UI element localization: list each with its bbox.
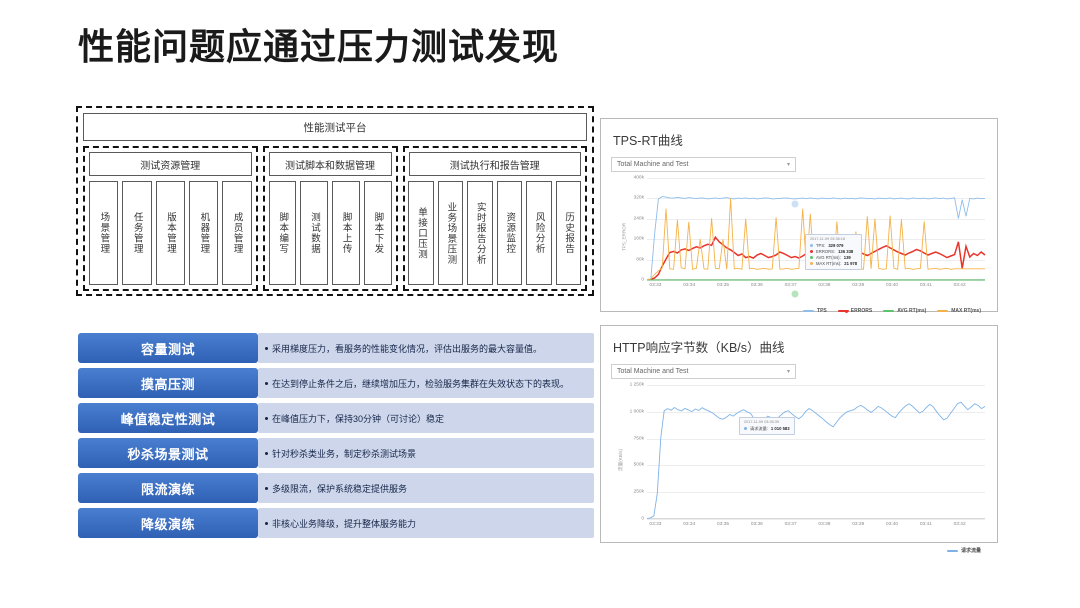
- tooltip-swatch-icon: [810, 256, 813, 259]
- test-type-desc-wrap: 在达到停止条件之后，继续增加压力，检验服务集群在失效状态下的表现。: [258, 368, 594, 398]
- arch-group-title: 测试资源管理: [89, 152, 252, 176]
- page-title: 性能问题应通过压力测试发现: [78, 18, 559, 70]
- gridline: [647, 519, 985, 520]
- y-axis-tick: 160k: [634, 237, 644, 242]
- http-plot-area: 流量(KB/s) 1 250k1 000k750k500k250k003:330…: [611, 385, 987, 535]
- arch-item: 风险分析: [526, 181, 551, 285]
- y-axis-tick: 0: [641, 517, 644, 522]
- tooltip-series-value: 1 010 583: [771, 426, 790, 432]
- test-type-label: 限流演练: [78, 473, 258, 503]
- x-axis-tick: 03:41: [920, 522, 932, 527]
- legend-label: TPS: [817, 308, 827, 314]
- legend-item-max-rt[interactable]: MAX RT(ms): [937, 308, 981, 314]
- test-type-desc: 采用梯度压力，看服务的性能变化情况，评估出服务的最大容量值。: [272, 342, 542, 355]
- tps-grid: 400k320k240k160k80k003:3303:3403:3503:36…: [647, 178, 985, 280]
- y-axis-label: TPS_ERROR: [622, 223, 627, 251]
- y-axis-label: 流量(KB/s): [618, 449, 624, 471]
- chart-title: TPS-RT曲线: [613, 130, 987, 149]
- test-type-label: 降级演练: [78, 508, 258, 538]
- series-paths: [647, 385, 985, 519]
- arch-item: 资源监控: [497, 181, 522, 285]
- arch-group-items: 脚本编写 测试数据 脚本上传 脚本下发: [269, 181, 392, 285]
- legend-label: ERRORS: [851, 308, 872, 314]
- x-axis-tick: 03:39: [852, 283, 864, 288]
- machine-select-http[interactable]: Total Machine and Test ▾: [611, 364, 796, 379]
- x-axis-tick: 03:35: [717, 522, 729, 527]
- select-value: Total Machine and Test: [617, 368, 688, 375]
- machine-select-tps[interactable]: Total Machine and Test ▾: [611, 157, 796, 172]
- chart-hover-marker: [792, 291, 799, 298]
- test-type-desc-wrap: 多级限流，保护系统稳定提供服务: [258, 473, 594, 503]
- tooltip-row: MAX RT(ms):21 978: [810, 261, 857, 267]
- arch-item: 实时报告分析: [467, 181, 492, 285]
- x-axis-tick: 03:34: [683, 522, 695, 527]
- legend-item-errors[interactable]: ERRORS: [838, 308, 872, 314]
- bullet-icon: [265, 382, 268, 385]
- test-type-desc: 多级限流，保护系统稳定提供服务: [272, 482, 407, 495]
- arch-group-resource: 测试资源管理 场景管理 任务管理 版本管理 机器管理 成员管理: [83, 146, 258, 291]
- list-item: 限流演练 多级限流，保护系统稳定提供服务: [78, 473, 594, 503]
- arch-group-execution: 测试执行和报告管理 单接口压测 业务场景压测 实时报告分析 资源监控 风险分析 …: [403, 146, 588, 291]
- y-axis-tick: 1 000k: [630, 409, 644, 414]
- y-axis-tick: 320k: [634, 196, 644, 201]
- legend-label: 请求流量: [961, 547, 981, 554]
- x-axis-tick: 03:40: [886, 283, 898, 288]
- x-axis-tick: 03:37: [785, 283, 797, 288]
- arch-group-title: 测试执行和报告管理: [409, 152, 582, 176]
- list-item: 峰值稳定性测试 在峰值压力下，保持30分钟（可讨论）稳定: [78, 403, 594, 433]
- test-type-desc-wrap: 采用梯度压力，看服务的性能变化情况，评估出服务的最大容量值。: [258, 333, 594, 363]
- arch-item: 业务场景压测: [438, 181, 463, 285]
- chart-title: HTTP响应字节数（KB/s）曲线: [613, 337, 987, 356]
- http-bytes-chart-panel: HTTP响应字节数（KB/s）曲线 Total Machine and Test…: [600, 325, 998, 543]
- bullet-icon: [265, 417, 268, 420]
- bullet-icon: [265, 347, 268, 350]
- tooltip-swatch-icon: [810, 244, 813, 247]
- x-axis-tick: 03:39: [852, 522, 864, 527]
- chevron-down-icon: ▾: [787, 161, 790, 168]
- x-axis-tick: 03:37: [785, 522, 797, 527]
- legend-item-avg-rt[interactable]: AVG RT(ms): [883, 308, 926, 314]
- arch-item: 脚本上传: [332, 181, 360, 285]
- legend-item-tps[interactable]: TPS: [803, 308, 827, 314]
- list-item: 秒杀场景测试 针对秒杀类业务，制定秒杀测试场景: [78, 438, 594, 468]
- bullet-icon: [265, 487, 268, 490]
- test-type-desc: 非核心业务降级，提升整体服务能力: [272, 517, 416, 530]
- bullet-icon: [265, 522, 268, 525]
- legend-label: AVG RT(ms): [897, 308, 926, 314]
- arch-group-items: 场景管理 任务管理 版本管理 机器管理 成员管理: [89, 181, 252, 285]
- arch-item: 单接口压测: [408, 181, 433, 285]
- test-type-label: 秒杀场景测试: [78, 438, 258, 468]
- y-axis-tick: 0: [641, 278, 644, 283]
- chart-tooltip: 2017-11-09 03:35:39请求流量:1 010 583: [739, 417, 795, 435]
- architecture-diagram: 性能测试平台 测试资源管理 场景管理 任务管理 版本管理 机器管理 成员管理 测…: [76, 106, 594, 296]
- chart-hover-marker: [792, 201, 799, 208]
- arch-item: 成员管理: [222, 181, 251, 285]
- y-axis-tick: 750k: [634, 436, 644, 441]
- tps-legend: TPS ERRORS AVG RT(ms) MAX RT(ms): [611, 308, 987, 314]
- chart-tooltip: 2017-11-09 03:38:18TPS:329 079ERRORS:136…: [805, 234, 862, 270]
- tooltip-series-name: MAX RT(ms):: [816, 261, 841, 267]
- tooltip-row: 请求流量:1 010 583: [744, 426, 790, 432]
- x-axis-tick: 03:40: [886, 522, 898, 527]
- architecture-columns: 测试资源管理 场景管理 任务管理 版本管理 机器管理 成员管理 测试脚本和数据管…: [83, 146, 587, 291]
- arch-group-title: 测试脚本和数据管理: [269, 152, 392, 176]
- x-axis-tick: 03:33: [649, 522, 661, 527]
- x-axis-tick: 03:35: [717, 283, 729, 288]
- select-value: Total Machine and Test: [617, 161, 688, 168]
- x-axis-tick: 03:33: [649, 283, 661, 288]
- x-axis-tick: 03:38: [818, 283, 830, 288]
- arch-item: 脚本编写: [269, 181, 297, 285]
- arch-item: 脚本下发: [364, 181, 392, 285]
- y-axis-tick: 400k: [634, 176, 644, 181]
- test-type-desc-wrap: 针对秒杀类业务，制定秒杀测试场景: [258, 438, 594, 468]
- x-axis-tick: 03:42: [954, 283, 966, 288]
- list-item: 降级演练 非核心业务降级，提升整体服务能力: [78, 508, 594, 538]
- test-type-list: 容量测试 采用梯度压力，看服务的性能变化情况，评估出服务的最大容量值。 摸高压测…: [78, 333, 594, 543]
- platform-box: 性能测试平台: [83, 113, 587, 141]
- test-type-desc-wrap: 在峰值压力下，保持30分钟（可讨论）稳定: [258, 403, 594, 433]
- slide-root: 性能问题应通过压力测试发现 性能测试平台 测试资源管理 场景管理 任务管理 版本…: [0, 0, 1080, 608]
- arch-item: 测试数据: [300, 181, 328, 285]
- tps-rt-chart-panel: TPS-RT曲线 Total Machine and Test ▾ TPS_ER…: [600, 118, 998, 312]
- tooltip-swatch-icon: [810, 262, 813, 265]
- list-item: 摸高压测 在达到停止条件之后，继续增加压力，检验服务集群在失效状态下的表现。: [78, 368, 594, 398]
- test-type-desc: 针对秒杀类业务，制定秒杀测试场景: [272, 447, 416, 460]
- test-type-label: 峰值稳定性测试: [78, 403, 258, 433]
- tooltip-series-name: 请求流量:: [750, 426, 768, 432]
- arch-item: 场景管理: [89, 181, 118, 285]
- x-axis-tick: 03:41: [920, 283, 932, 288]
- arch-group-script: 测试脚本和数据管理 脚本编写 测试数据 脚本上传 脚本下发: [263, 146, 398, 291]
- x-axis-tick: 03:38: [818, 522, 830, 527]
- tooltip-swatch-icon: [744, 427, 747, 430]
- y-axis-tick: 500k: [634, 463, 644, 468]
- bullet-icon: [265, 452, 268, 455]
- test-type-desc-wrap: 非核心业务降级，提升整体服务能力: [258, 508, 594, 538]
- arch-item: 版本管理: [156, 181, 185, 285]
- y-axis-tick: 80k: [636, 257, 644, 262]
- x-axis-tick: 03:36: [751, 522, 763, 527]
- arch-item: 机器管理: [189, 181, 218, 285]
- chevron-down-icon: ▾: [787, 368, 790, 375]
- y-axis-tick: 250k: [634, 490, 644, 495]
- x-axis-tick: 03:36: [751, 283, 763, 288]
- y-axis-tick: 1 250k: [630, 383, 644, 388]
- legend-item-traffic[interactable]: 请求流量: [947, 547, 981, 554]
- list-item: 容量测试 采用梯度压力，看服务的性能变化情况，评估出服务的最大容量值。: [78, 333, 594, 363]
- tps-plot-area: TPS_ERROR 400k320k240k160k80k003:3303:34…: [611, 178, 987, 296]
- tooltip-swatch-icon: [810, 250, 813, 253]
- test-type-label: 摸高压测: [78, 368, 258, 398]
- http-grid: 1 250k1 000k750k500k250k003:3303:3403:35…: [647, 385, 985, 519]
- arch-item: 历史报告: [556, 181, 581, 285]
- test-type-label: 容量测试: [78, 333, 258, 363]
- x-axis-tick: 03:34: [683, 283, 695, 288]
- http-legend: 请求流量: [611, 547, 987, 554]
- x-axis-tick: 03:42: [954, 522, 966, 527]
- arch-item: 任务管理: [122, 181, 151, 285]
- y-axis-tick: 240k: [634, 216, 644, 221]
- tooltip-series-value: 21 978: [844, 261, 857, 267]
- test-type-desc: 在峰值压力下，保持30分钟（可讨论）稳定: [272, 412, 444, 425]
- arch-group-items: 单接口压测 业务场景压测 实时报告分析 资源监控 风险分析 历史报告: [409, 181, 582, 285]
- legend-label: MAX RT(ms): [951, 308, 981, 314]
- test-type-desc: 在达到停止条件之后，继续增加压力，检验服务集群在失效状态下的表现。: [272, 377, 569, 390]
